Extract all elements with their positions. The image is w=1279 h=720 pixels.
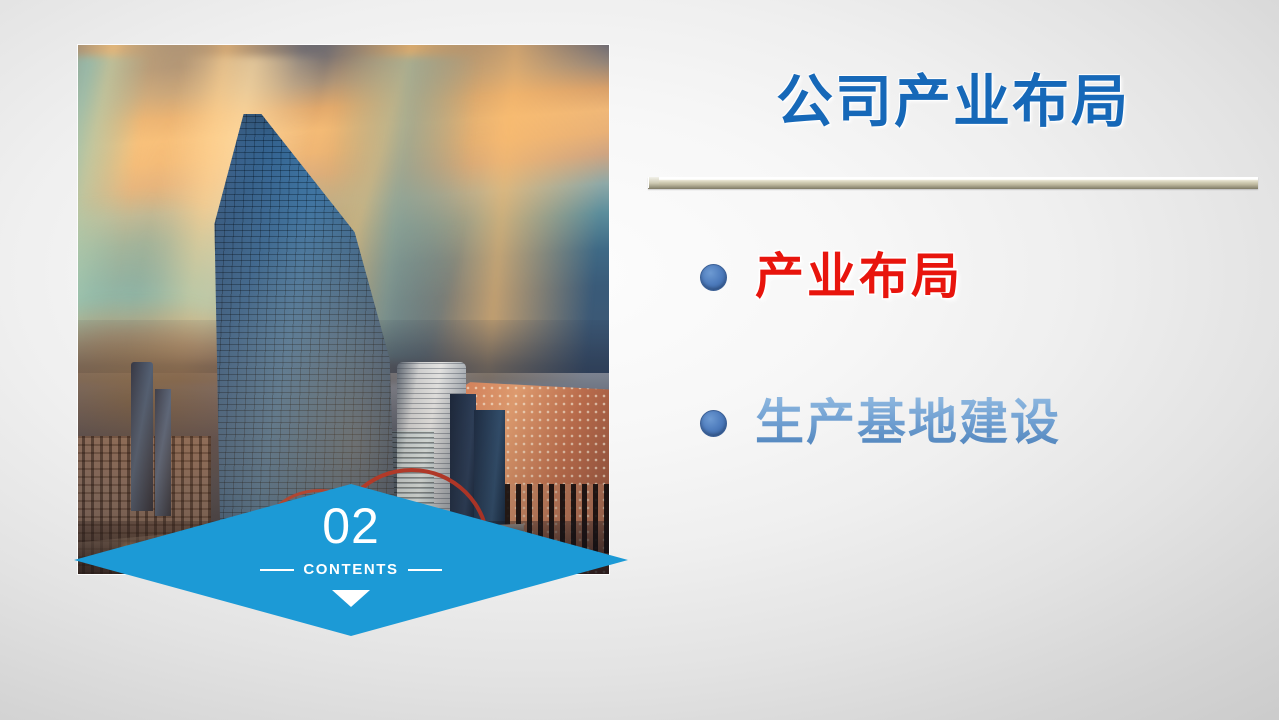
list-item[interactable]: 生产基地建设 [700, 384, 1260, 462]
page-title: 公司产业布局 [648, 70, 1258, 136]
title-divider-cap [648, 177, 659, 188]
list-item[interactable]: 产业布局 [700, 238, 1260, 316]
presentation-slide: 02 CONTENTS 公司产业布局 产业布局 生产基地建设 [0, 0, 1279, 720]
bullet-label-production-base-wrap: 生产基地建设 [755, 399, 1061, 448]
bullet-dot-icon [700, 264, 727, 291]
bullet-list: 产业布局 生产基地建设 [700, 238, 1260, 462]
title-divider-bar [648, 177, 1258, 189]
tower-left-a [131, 362, 153, 510]
tower-left-b [155, 389, 171, 516]
bullet-dot-icon [700, 410, 727, 437]
bullet-label-industry-layout: 产业布局 [755, 253, 963, 302]
bullet-label-production-base: 生产基地建设 [755, 396, 1061, 450]
